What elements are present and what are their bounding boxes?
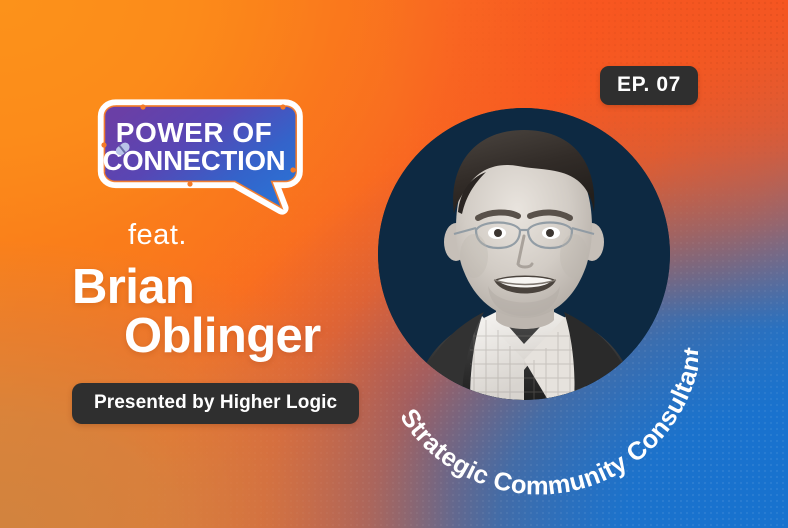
power-of-connection-logo: POWER OF CONNECTION bbox=[78, 98, 310, 216]
episode-badge: EP. 07 bbox=[600, 66, 698, 105]
logo-line-1: POWER OF bbox=[116, 117, 272, 148]
logo-line-2: CONNECTION bbox=[103, 145, 286, 176]
guest-last-name: Oblinger bbox=[72, 312, 402, 361]
feat-label: feat. bbox=[128, 219, 187, 252]
guest-first-name: Brian bbox=[72, 260, 194, 314]
guest-portrait bbox=[378, 108, 670, 400]
guest-name: Brian Oblinger bbox=[72, 263, 402, 360]
podcast-promo-poster: Strategic Community Consultant bbox=[0, 0, 788, 528]
presented-by-badge: Presented by Higher Logic bbox=[72, 383, 359, 424]
